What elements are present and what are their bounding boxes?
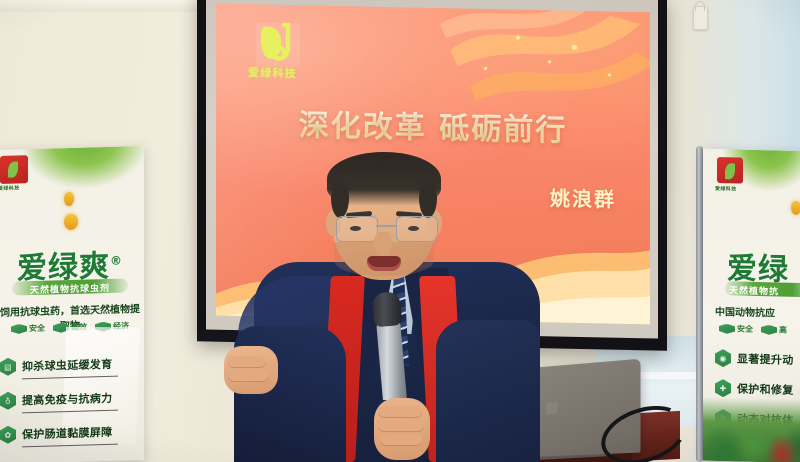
banner-right: 爱绿科技 爱绿 天然植物抗 中国动物抗应 安全 高 ◉ 显著提升动 ✚ 保护和修… (703, 149, 800, 462)
banner-left-feature-row: ✿ 保护肠道黏膜屏障 (0, 423, 112, 444)
speaker-hand-left (224, 346, 278, 394)
chart-up-icon (761, 325, 777, 335)
banner-left-logo-icon (0, 155, 28, 184)
banner-left-feature-label: 提高免疫与抗病力 (22, 390, 112, 409)
hex-immunity-icon: ♁ (0, 392, 16, 410)
light-spark (548, 60, 551, 63)
light-spark (516, 36, 520, 40)
feature-underline (22, 444, 118, 448)
finger (228, 356, 266, 368)
finger (378, 406, 422, 418)
banner-left-droplet (64, 192, 74, 206)
banner-right-feature-label: 显著提升动 (737, 350, 794, 367)
banner-right-chip-label: 安全 (737, 323, 753, 334)
banner-left-feature-label: 保护肠道黏膜屏障 (22, 424, 112, 443)
banner-left: 爱绿科技 爱绿爽® 天然植物抗球虫剂 饲用抗球虫药，首选天然植物提取物 安全 高… (0, 146, 144, 462)
glasses-lens-right (396, 216, 438, 242)
microphone-head (372, 291, 403, 327)
banner-left-feature-label: 抑杀球虫延缓发育 (22, 356, 112, 375)
light-spark (572, 45, 577, 50)
ceiling-strip (0, 0, 230, 12)
banner-left-chip: 安全 (11, 323, 45, 335)
light-spark (484, 67, 487, 70)
shield-icon (11, 324, 27, 334)
banner-left-registered-mark: ® (110, 254, 123, 268)
speaker-figure (228, 150, 558, 462)
banner-left-chip-label: 安全 (29, 323, 45, 334)
finger (380, 434, 422, 446)
banner-right-logo-icon (717, 157, 743, 184)
banner-left-subtitle: 天然植物抗球虫剂 (0, 280, 144, 297)
slide-title: 深化改革 砥砺前行 (216, 99, 650, 152)
banner-right-subtitle: 天然植物抗 (703, 283, 800, 299)
speaker-nose (374, 232, 392, 256)
light-spark (608, 74, 611, 77)
presentation-photo-scene: 爱绿科技 深化改革 砥砺前行 姚浪群 爱绿科技 爱绿爽® 天然植物抗球虫剂 饲用… (0, 0, 800, 462)
speaker-hair (327, 152, 441, 206)
banner-right-feature-row: ◉ 显著提升动 (715, 349, 794, 369)
hex-document-icon: ▤ (0, 358, 16, 376)
slide-logo-text: 爱绿科技 (248, 64, 326, 82)
speaker-arm-right (436, 320, 540, 462)
banner-right-chip: 安全 (719, 323, 753, 335)
banner-right-feature-row: ✚ 保护和修复 (715, 379, 794, 399)
speaker-hand-holding-mic (374, 398, 430, 460)
banner-right-logo-text: 爱绿科技 (715, 185, 737, 193)
banner-right-droplet (791, 201, 800, 215)
banner-right-tagline: 中国动物抗应 (703, 303, 800, 321)
banner-left-feature-row: ♁ 提高免疫与抗病力 (0, 389, 112, 410)
hex-repair-icon: ✚ (715, 379, 731, 397)
shield-icon (719, 324, 735, 334)
banner-right-plant-imagery (703, 407, 800, 462)
speaker-mouth (367, 256, 401, 271)
banner-left-logo-text: 爱绿科技 (0, 184, 20, 192)
banner-right-stand (696, 146, 703, 462)
glasses-lens-left (336, 216, 378, 242)
banner-right-chips: 安全 高 (703, 323, 800, 337)
banner-right-chip: 高 (761, 324, 787, 336)
sprout-leaf-icon (250, 20, 320, 69)
wall-hook-icon (693, 6, 708, 30)
finger (378, 420, 424, 432)
banner-left-feature-row: ▤ 抑杀球虫延缓发育 (0, 355, 112, 376)
banner-right-chip-label: 高 (779, 325, 787, 336)
finger (228, 370, 268, 382)
glasses-bridge (376, 225, 396, 227)
hex-intestine-icon: ✿ (0, 426, 16, 444)
banner-left-droplet (64, 214, 78, 230)
slide-brand-logo: 爱绿科技 (248, 22, 320, 89)
hex-boost-icon: ◉ (715, 349, 731, 367)
banner-right-feature-label: 保护和修复 (737, 380, 794, 397)
